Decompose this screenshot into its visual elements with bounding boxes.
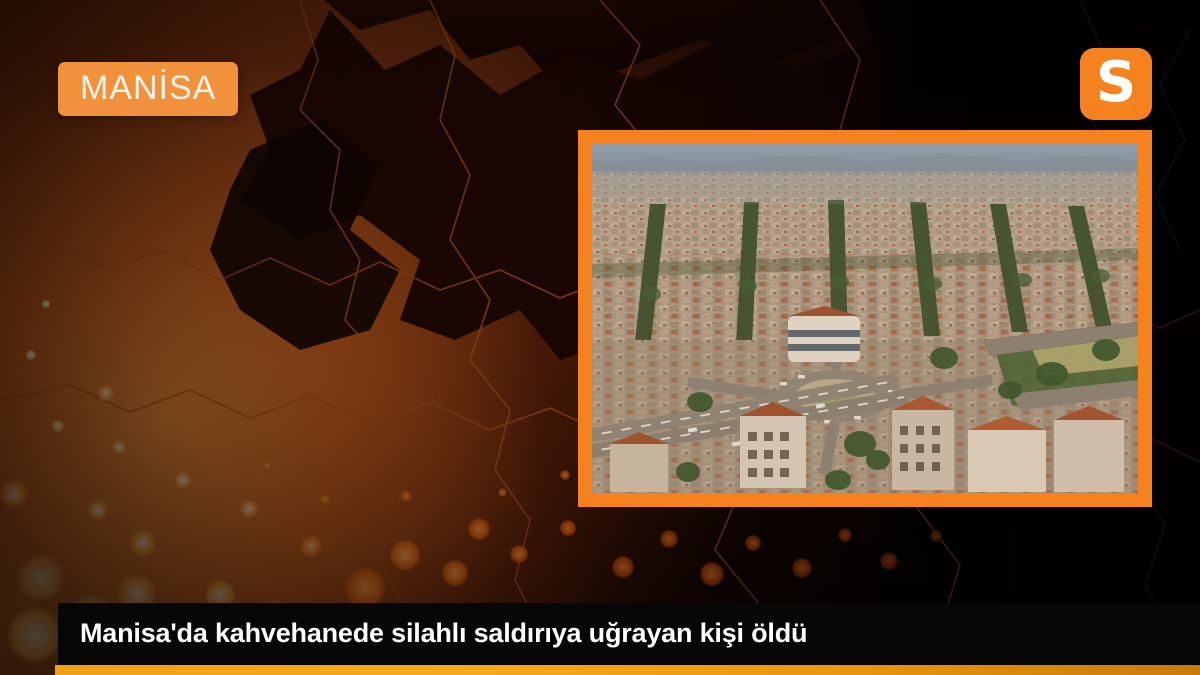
news-photo — [592, 144, 1138, 493]
brand-logo-letter: S — [1096, 55, 1136, 111]
news-graphic: MANİSA S — [0, 0, 1200, 675]
news-photo-frame — [578, 130, 1152, 507]
headline-bar: Manisa'da kahvehanede silahlı saldırıya … — [58, 603, 1200, 665]
headline-text: Manisa'da kahvehanede silahlı saldırıya … — [80, 619, 807, 647]
headline-container: Manisa'da kahvehanede silahlı saldırıya … — [58, 603, 1200, 675]
brand-logo[interactable]: S — [1080, 48, 1152, 120]
city-badge: MANİSA — [58, 62, 238, 116]
headline-accent-rule — [55, 665, 1200, 675]
